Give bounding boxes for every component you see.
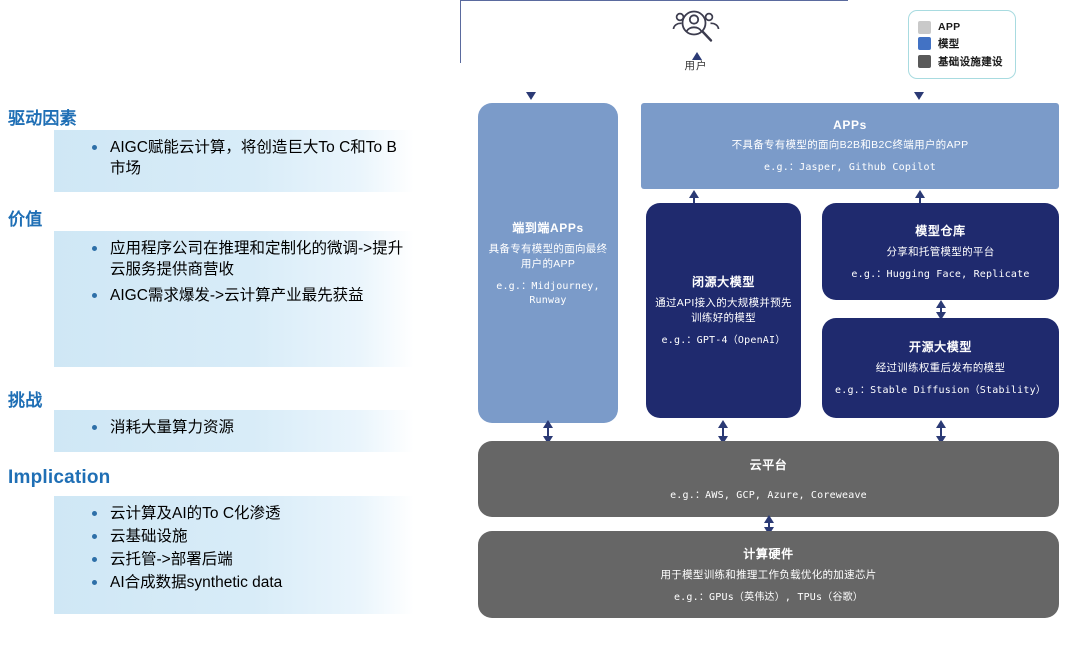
arrow-down-to-apps [914, 92, 924, 100]
arrow-stem [722, 425, 723, 439]
arrow-stem [940, 305, 941, 315]
bullet-text: 应用程序公司在推理和定制化的微调->提升云服务提供商营收 [110, 238, 410, 281]
connector-top-left-stem [460, 1, 461, 23]
arrow-up-to-users [692, 52, 702, 60]
legend-label-app: APP [938, 21, 961, 33]
slide-root: 驱动因素 AIGC赋能云计算，将创造巨大To C和To B市场 价值 应用程序公… [0, 0, 1080, 648]
node-example: e.g.：GPT-4（OpenAI） [662, 334, 786, 348]
bullet-dot [92, 145, 97, 150]
arrow-hub-open-model [936, 300, 946, 320]
bullet-text: AIGC赋能云计算，将创造巨大To C和To B市场 [110, 137, 410, 180]
node-example: e.g.：Jasper, Github Copilot [764, 161, 936, 175]
bullet-dot [92, 534, 97, 539]
legend-label-infra: 基础设施建设 [938, 54, 1003, 69]
users-group: 用户 [656, 6, 736, 73]
connector-top-right-stem [460, 23, 461, 45]
node-end-to-end-apps[interactable]: 端到端APPs 具备专有模型的面向最终用户的APP e.g.：Midjourne… [478, 103, 618, 423]
section-heading-drivers: 驱动因素 [8, 104, 77, 129]
node-title: 开源大模型 [909, 338, 972, 355]
architecture-diagram: 用户 APP 模型 基础设施建设 端到端APPs [460, 0, 1080, 648]
legend-item-model: 模型 [918, 36, 1003, 51]
node-desc: 经过训练权重后发布的模型 [876, 361, 1006, 376]
node-example: e.g.：Hugging Face, Replicate [851, 268, 1029, 282]
node-title: 模型仓库 [915, 222, 965, 239]
node-desc: 通过API接入的大规模并预先训练好的模型 [654, 296, 793, 326]
section-body-drivers: AIGC赋能云计算，将创造巨大To C和To B市场 [54, 130, 414, 192]
arrow-stem [768, 520, 769, 530]
legend-box: APP 模型 基础设施建设 [908, 10, 1016, 79]
bullet-dot [92, 557, 97, 562]
node-apps[interactable]: APPs 不具备专有模型的面向B2B和B2C终端用户的APP e.g.：Jasp… [641, 103, 1059, 189]
users-search-icon [665, 6, 727, 52]
bullet-item: 云托管->部署后端 [54, 549, 414, 571]
bullet-item: 云计算及AI的To C化渗透 [54, 503, 414, 525]
connector-users-stem [460, 45, 461, 63]
bullet-dot [92, 511, 97, 516]
node-example: e.g.：GPUs（英伟达）, TPUs（谷歌） [674, 591, 863, 605]
legend-label-model: 模型 [938, 36, 960, 51]
bullet-text: 云基础设施 [110, 526, 188, 548]
node-compute-hardware[interactable]: 计算硬件 用于模型训练和推理工作负载优化的加速芯片 e.g.：GPUs（英伟达）… [478, 531, 1059, 618]
node-title: 计算硬件 [743, 545, 793, 562]
connector-top-bus [460, 0, 848, 1]
node-open-source-model[interactable]: 开源大模型 经过训练权重后发布的模型 e.g.：Stable Diffusion… [822, 318, 1059, 418]
bullet-text: 云托管->部署后端 [110, 549, 233, 571]
legend-swatch-infra [918, 55, 931, 68]
bullet-text: 云计算及AI的To C化渗透 [110, 503, 281, 525]
bullet-item: 消耗大量算力资源 [54, 417, 414, 438]
node-example: e.g.：AWS, GCP, Azure, Coreweave [670, 489, 867, 503]
node-cloud-platform[interactable]: 云平台 e.g.：AWS, GCP, Azure, Coreweave [478, 441, 1059, 517]
bullet-text: AIGC需求爆发->云计算产业最先获益 [110, 285, 364, 306]
arrow-stem [940, 425, 941, 439]
legend-swatch-app [918, 21, 931, 34]
section-body-challenges: 消耗大量算力资源 [54, 410, 414, 452]
bullet-item: 云基础设施 [54, 526, 414, 548]
legend-item-infra: 基础设施建设 [918, 54, 1003, 69]
left-text-panel: 驱动因素 AIGC赋能云计算，将创造巨大To C和To B市场 价值 应用程序公… [0, 0, 460, 648]
node-model-hub[interactable]: 模型仓库 分享和托管模型的平台 e.g.：Hugging Face, Repli… [822, 203, 1059, 300]
section-heading-implication: Implication [8, 467, 111, 489]
section-heading-challenges: 挑战 [8, 386, 42, 411]
node-title: 云平台 [750, 456, 788, 473]
bullet-dot [92, 580, 97, 585]
arrow-down-to-end-apps [526, 92, 536, 100]
bullet-dot [92, 293, 97, 298]
bullet-text: AI合成数据synthetic data [110, 572, 282, 594]
bullet-item: AI合成数据synthetic data [54, 572, 414, 594]
section-body-value: 应用程序公司在推理和定制化的微调->提升云服务提供商营收 AIGC需求爆发->云… [54, 231, 414, 367]
bullet-text: 消耗大量算力资源 [110, 417, 234, 438]
node-title: 闭源大模型 [692, 273, 755, 290]
node-title: 端到端APPs [512, 219, 584, 236]
bullet-item: AIGC赋能云计算，将创造巨大To C和To B市场 [54, 137, 414, 180]
node-desc: 用于模型训练和推理工作负载优化的加速芯片 [661, 568, 877, 583]
node-example: e.g.：Midjourney, Runway [486, 280, 610, 307]
node-title: APPs [833, 118, 867, 132]
bullet-item: 应用程序公司在推理和定制化的微调->提升云服务提供商营收 [54, 238, 414, 281]
section-body-implication: 云计算及AI的To C化渗透 云基础设施 云托管->部署后端 AI合成数据syn… [54, 496, 414, 614]
node-closed-source-model[interactable]: 闭源大模型 通过API接入的大规模并预先训练好的模型 e.g.：GPT-4（Op… [646, 203, 801, 418]
node-desc: 不具备专有模型的面向B2B和B2C终端用户的APP [732, 138, 969, 153]
bullet-dot [92, 425, 97, 430]
node-desc: 分享和托管模型的平台 [887, 245, 995, 260]
node-desc: 具备专有模型的面向最终用户的APP [488, 242, 608, 272]
bullet-dot [92, 246, 97, 251]
legend-swatch-model [918, 37, 931, 50]
arrow-stem [547, 425, 548, 439]
node-example: e.g.：Stable Diffusion（Stability） [835, 384, 1046, 398]
bullet-item: AIGC需求爆发->云计算产业最先获益 [54, 285, 414, 306]
section-heading-value: 价值 [8, 205, 42, 230]
users-label: 用户 [656, 58, 736, 73]
legend-item-app: APP [918, 21, 1003, 34]
